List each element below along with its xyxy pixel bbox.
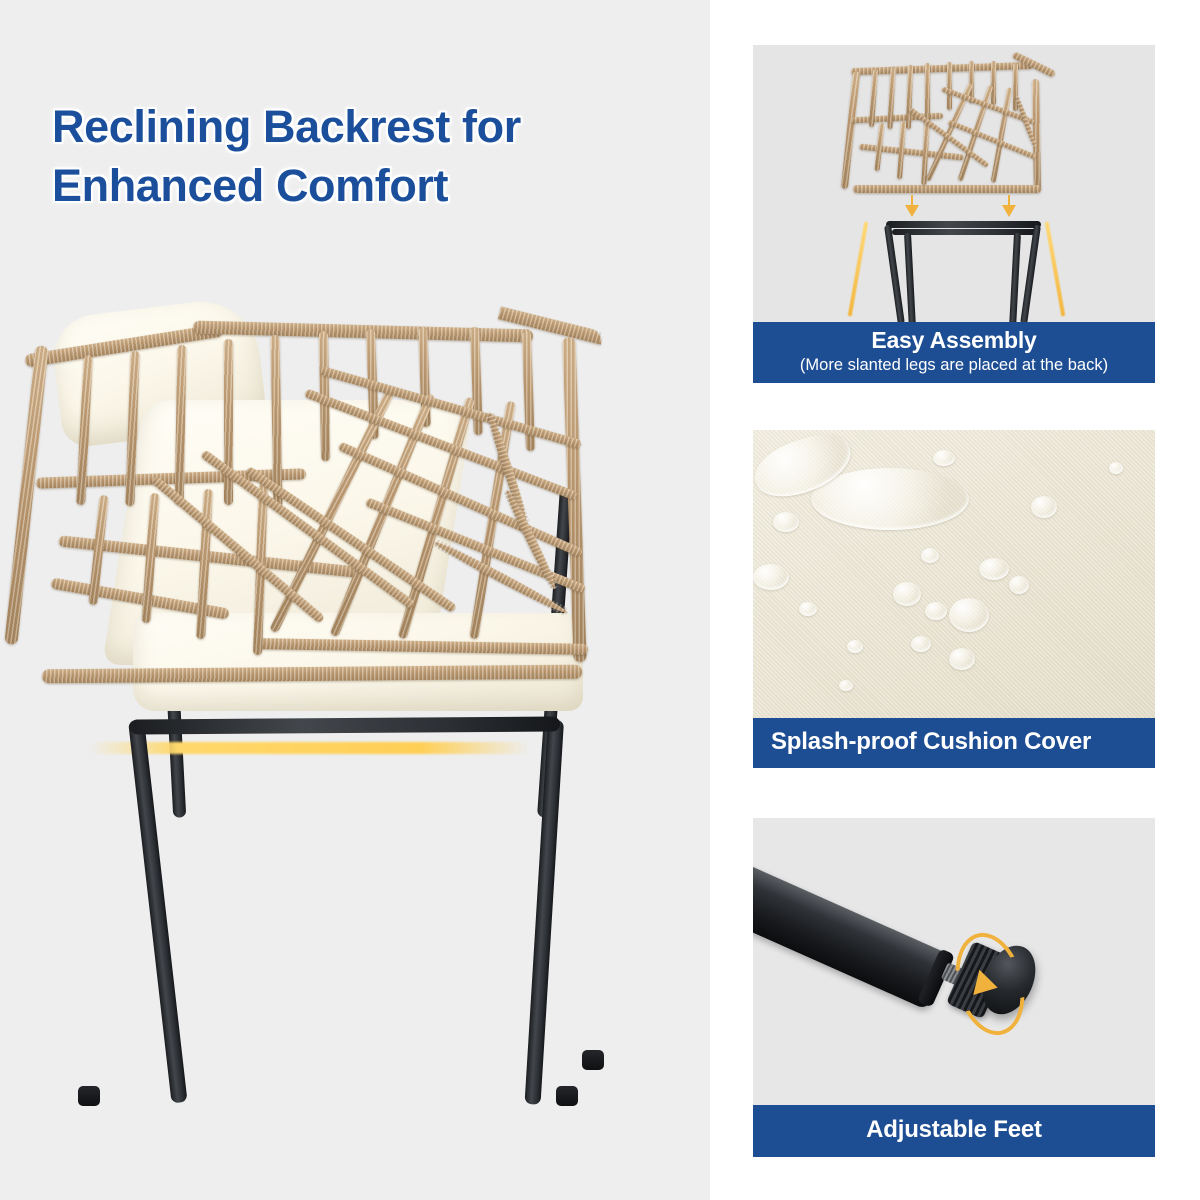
assembly-frame-rail-top	[886, 221, 1041, 228]
water-droplet-5	[753, 564, 789, 590]
product-image-chair	[0, 250, 710, 1200]
caption-subtitle: (More slanted legs are placed at the bac…	[757, 355, 1151, 376]
assembly-frame-leg-fl	[884, 225, 905, 322]
feature-image-feet	[753, 818, 1155, 1105]
caption-title: Easy Assembly	[757, 327, 1151, 355]
assembly-leg-frame	[878, 221, 1048, 322]
water-droplet-11	[979, 558, 1009, 580]
water-droplet-3	[1031, 496, 1057, 518]
feature-image-splash	[753, 430, 1155, 718]
assembly-arrow-left-icon	[905, 205, 919, 217]
water-droplet-6	[799, 602, 817, 616]
water-droplet-12	[1009, 576, 1029, 594]
assembly-shell-top	[851, 62, 1033, 75]
assembly-shell-back	[841, 71, 860, 189]
caption-adjustable-feet: Adjustable Feet	[753, 1105, 1155, 1157]
assembly-shell-bottom	[853, 185, 1041, 193]
feature-panel-adjustable-feet: Adjustable Feet	[753, 818, 1155, 1157]
feature-panel-splash-proof: Splash-proof Cushion Cover	[753, 430, 1155, 768]
assembly-shell-mid2	[859, 144, 964, 161]
page-title: Reclining Backrest for Enhanced Comfort	[52, 98, 692, 215]
chair-foot-front-left	[78, 1086, 100, 1106]
chair-leg-cross-rail	[130, 716, 560, 734]
water-droplet-7	[921, 548, 939, 563]
caption-splash-proof: Splash-proof Cushion Cover	[753, 718, 1155, 768]
assembly-shell-slat-5	[947, 62, 952, 110]
chair-leg-front-right	[525, 720, 564, 1105]
water-droplet-4	[1109, 462, 1123, 474]
chair-foot-front-right	[556, 1086, 578, 1106]
chair-rattan-body	[28, 345, 613, 750]
caption-title: Splash-proof Cushion Cover	[771, 728, 1155, 757]
water-droplet-13	[847, 640, 863, 653]
feature-image-assembly	[753, 45, 1155, 322]
assembly-frame-leg-fr	[1020, 225, 1041, 322]
caption-title: Adjustable Feet	[753, 1116, 1155, 1145]
water-droplet-15	[949, 648, 975, 670]
water-droplet-2	[933, 450, 955, 466]
assembly-frame-leg-br	[1009, 233, 1021, 322]
rattan-rail-back-post	[4, 345, 48, 645]
water-droplet-8	[893, 582, 921, 606]
water-droplet-10	[949, 598, 989, 632]
water-droplet-14	[911, 636, 931, 652]
hero-section: Reclining Backrest for Enhanced Comfort	[0, 0, 710, 1200]
water-droplet-16	[839, 680, 853, 691]
water-droplet-1	[773, 512, 799, 532]
water-droplet-9	[925, 602, 947, 620]
feature-panel-easy-assembly: Easy Assembly (More slanted legs are pla…	[753, 45, 1155, 383]
chair-foot-rear-right	[582, 1050, 604, 1070]
assembly-frame-leg-bl	[904, 233, 916, 322]
seat-accent-highlight	[90, 742, 530, 754]
assembly-spark-left	[848, 221, 869, 316]
assembly-shell-slat-7	[991, 61, 996, 105]
caption-easy-assembly: Easy Assembly (More slanted legs are pla…	[753, 322, 1155, 383]
assembly-arrow-right-icon	[1002, 205, 1016, 217]
assembly-rattan-shell	[851, 63, 1046, 191]
